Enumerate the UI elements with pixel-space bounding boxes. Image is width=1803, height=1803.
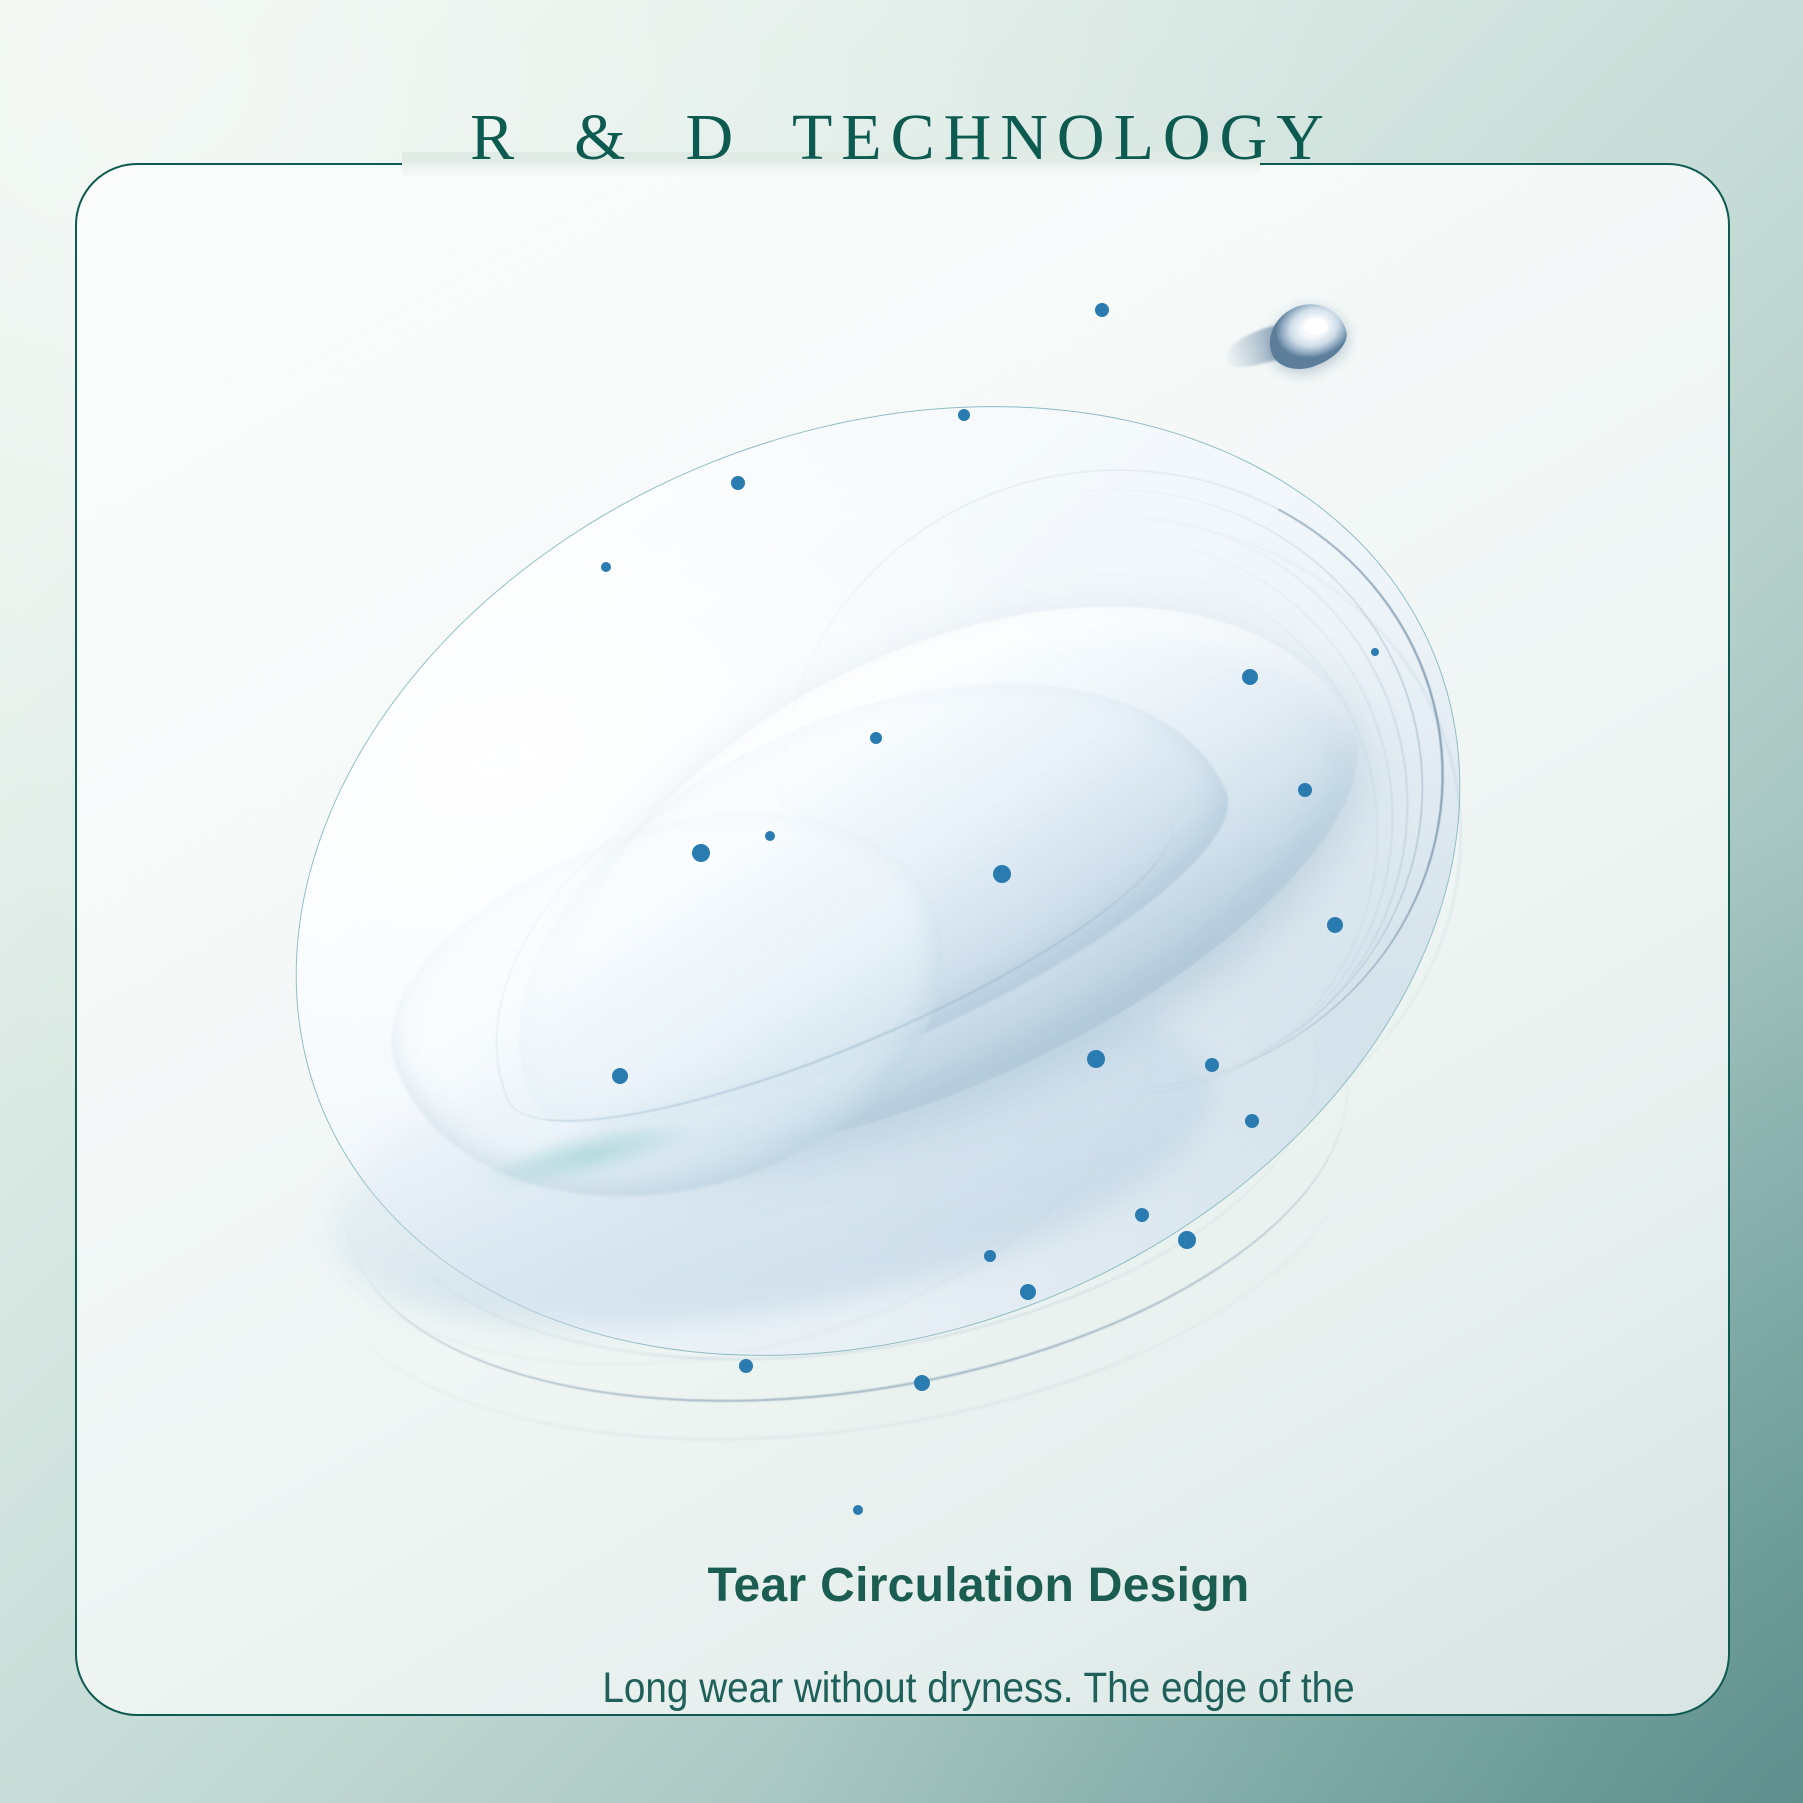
tear-dot bbox=[870, 732, 882, 744]
tear-dot bbox=[731, 476, 745, 490]
tear-dot bbox=[1242, 669, 1258, 685]
tear-dot bbox=[765, 831, 775, 841]
tear-dot bbox=[984, 1250, 996, 1262]
tear-dot bbox=[1020, 1284, 1036, 1300]
tear-dot bbox=[739, 1359, 753, 1373]
tear-dot bbox=[1095, 303, 1109, 317]
lens-illustration bbox=[222, 270, 1592, 1300]
tear-dot bbox=[1298, 783, 1312, 797]
tear-dot bbox=[612, 1068, 628, 1084]
tear-dot bbox=[958, 409, 970, 421]
tear-dot bbox=[993, 865, 1011, 883]
tear-dot bbox=[853, 1505, 863, 1515]
poster-root: Tear Circulation Design Long wear withou… bbox=[0, 0, 1803, 1803]
droplet-highlight bbox=[1304, 318, 1328, 335]
tear-dot bbox=[692, 844, 710, 862]
tear-dot bbox=[1087, 1050, 1105, 1068]
tear-dot bbox=[914, 1375, 930, 1391]
tear-dot bbox=[601, 562, 611, 572]
caption-body: Long wear without dryness. The edge of t… bbox=[167, 1660, 1730, 1716]
caption-headline: Tear Circulation Design bbox=[77, 1558, 1730, 1613]
page-title: R & D TECHNOLOGY bbox=[0, 105, 1803, 171]
caption-body-line-1: Long wear without dryness. The edge of t… bbox=[167, 1660, 1730, 1716]
content-card: Tear Circulation Design Long wear withou… bbox=[75, 163, 1730, 1716]
tear-dot bbox=[1178, 1231, 1196, 1249]
tear-dot bbox=[1245, 1114, 1259, 1128]
tear-dot bbox=[1371, 648, 1379, 656]
tear-dot bbox=[1327, 917, 1343, 933]
tear-dot bbox=[1135, 1208, 1149, 1222]
tear-dot bbox=[1205, 1058, 1219, 1072]
